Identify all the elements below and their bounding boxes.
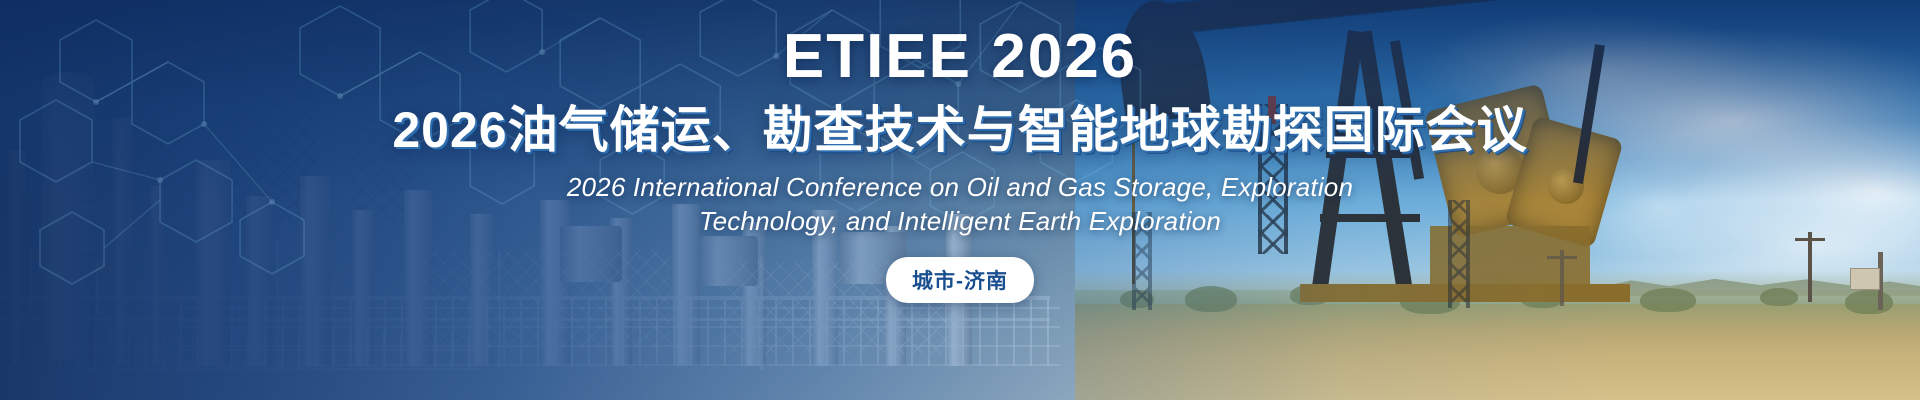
banner-content: ETIEE 2026 2026油气储运、勘查技术与智能地球勘探国际会议 2026… [0, 0, 1920, 400]
conference-subtitle-english: 2026 International Conference on Oil and… [567, 170, 1353, 239]
conference-banner: ETIEE 2026 2026油气储运、勘查技术与智能地球勘探国际会议 2026… [0, 0, 1920, 400]
city-badge[interactable]: 城市-济南 [886, 257, 1034, 303]
conference-title-chinese: 2026油气储运、勘查技术与智能地球勘探国际会议 [392, 102, 1527, 158]
subtitle-line-1: 2026 International Conference on Oil and… [567, 170, 1353, 204]
conference-acronym-title: ETIEE 2026 [783, 26, 1137, 88]
subtitle-line-2: Technology, and Intelligent Earth Explor… [567, 204, 1353, 238]
